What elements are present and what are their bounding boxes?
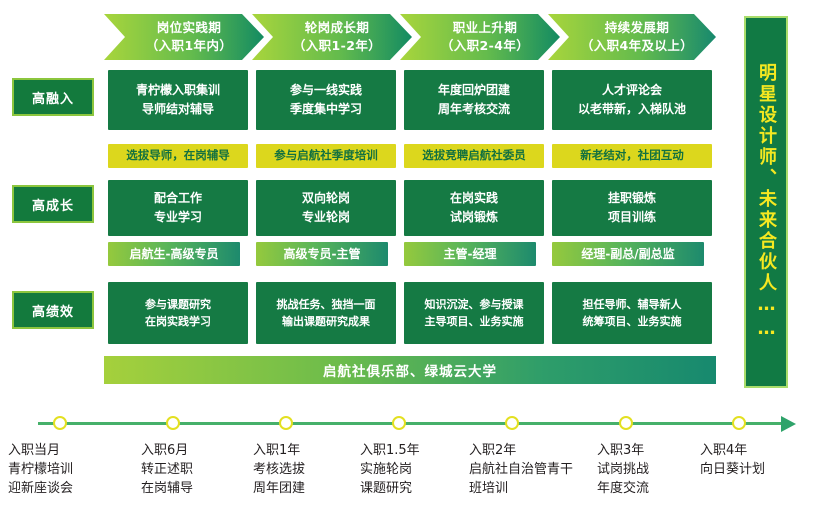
phase-4: 持续发展期 （入职4年及以上） bbox=[558, 14, 716, 60]
timeline-item-line-3: 班培训 bbox=[469, 480, 573, 499]
timeline-item-line-2: 试岗挑战 bbox=[597, 461, 649, 480]
timeline-item-line-1: 入职1年 bbox=[253, 442, 305, 461]
timeline-dot-1 bbox=[53, 416, 67, 430]
timeline-item-line-2: 考核选拔 bbox=[253, 461, 305, 480]
cell-line-1: 新老结对，社团互动 bbox=[580, 149, 684, 163]
cell-line-1: 配合工作 bbox=[154, 189, 202, 208]
cell-line-2: 导师结对辅导 bbox=[142, 100, 214, 119]
row-label-performance: 高绩效 bbox=[12, 291, 94, 329]
timeline-item-line-2: 实施轮岗 bbox=[360, 461, 420, 480]
cell-line-1: 高级专员-主管 bbox=[284, 247, 361, 261]
cell-line-1: 挑战任务、独挡一面 bbox=[277, 296, 376, 313]
cell-growth-main-2: 双向轮岗 专业轮岗 bbox=[256, 180, 396, 236]
timeline-dot-6 bbox=[619, 416, 633, 430]
cell-integration-sub-1: 选拔导师，在岗辅导 bbox=[108, 144, 248, 168]
cell-integration-main-2: 参与一线实践 季度集中学习 bbox=[256, 70, 396, 130]
cell-growth-sub-1: 启航生-高级专员 bbox=[108, 242, 240, 266]
cell-line-2: 季度集中学习 bbox=[290, 100, 362, 119]
cell-integration-main-1: 青柠檬入职集训 导师结对辅导 bbox=[108, 70, 248, 130]
phase-3-title: 职业上升期 bbox=[453, 19, 518, 37]
cell-line-1: 经理-副总/副总监 bbox=[581, 247, 674, 261]
cell-growth-sub-2: 高级专员-主管 bbox=[256, 242, 388, 266]
timeline-item-line-1: 入职2年 bbox=[469, 442, 573, 461]
cell-line-1: 双向轮岗 bbox=[302, 189, 350, 208]
row-label-integration-text: 高融入 bbox=[32, 88, 74, 107]
cell-performance-main-1: 参与课题研究 在岗实践学习 bbox=[108, 282, 248, 344]
timeline-item-4: 入职1.5年 实施轮岗 课题研究 bbox=[360, 442, 420, 499]
phase-3: 职业上升期 （入职2-4年） bbox=[410, 14, 560, 60]
cell-line-2: 统筹项目、业务实施 bbox=[583, 313, 682, 330]
timeline-dot-5 bbox=[505, 416, 519, 430]
cell-line-1: 参与启航社季度培训 bbox=[274, 149, 378, 163]
timeline-item-line-2: 青柠檬培训 bbox=[8, 461, 73, 480]
timeline: 入职当月 青柠檬培训 迎新座谈会 入职6月 转正述职 在岗辅导 入职1年 考核选… bbox=[0, 398, 821, 512]
cell-line-1: 启航生-高级专员 bbox=[130, 247, 219, 261]
cell-line-1: 选拔竞聘启航社委员 bbox=[422, 149, 526, 163]
phase-2-title: 轮岗成长期 bbox=[305, 19, 370, 37]
row-label-growth: 高成长 bbox=[12, 185, 94, 223]
vertical-banner-text: 明星设计师、未来合伙人…… bbox=[757, 63, 775, 342]
cell-growth-main-1: 配合工作 专业学习 bbox=[108, 180, 248, 236]
cell-line-2: 专业轮岗 bbox=[302, 208, 350, 227]
cell-line-2: 在岗实践学习 bbox=[145, 313, 211, 330]
phase-1-sub: （入职1年内） bbox=[146, 37, 233, 55]
timeline-dot-3 bbox=[279, 416, 293, 430]
cell-line-2: 试岗锻炼 bbox=[450, 208, 498, 227]
cell-line-1: 人才评论会 bbox=[602, 81, 662, 100]
timeline-item-line-1: 入职当月 bbox=[8, 442, 73, 461]
timeline-item-line-1: 入职4年 bbox=[700, 442, 765, 461]
cell-growth-main-3: 在岗实践 试岗锻炼 bbox=[404, 180, 544, 236]
cell-line-1: 青柠檬入职集训 bbox=[136, 81, 220, 100]
phase-2-sub: （入职1-2年） bbox=[293, 37, 381, 55]
timeline-item-1: 入职当月 青柠檬培训 迎新座谈会 bbox=[8, 442, 73, 499]
cell-line-1: 主管-经理 bbox=[444, 247, 497, 261]
timeline-item-line-3: 迎新座谈会 bbox=[8, 480, 73, 499]
timeline-item-line-3: 周年团建 bbox=[253, 480, 305, 499]
cell-line-2: 专业学习 bbox=[154, 208, 202, 227]
cell-line-1: 在岗实践 bbox=[450, 189, 498, 208]
cell-performance-main-3: 知识沉淀、参与授课 主导项目、业务实施 bbox=[404, 282, 544, 344]
timeline-item-2: 入职6月 转正述职 在岗辅导 bbox=[141, 442, 193, 499]
cell-line-2: 主导项目、业务实施 bbox=[425, 313, 524, 330]
timeline-item-line-1: 入职3年 bbox=[597, 442, 649, 461]
cell-integration-sub-4: 新老结对，社团互动 bbox=[552, 144, 712, 168]
timeline-item-6: 入职3年 试岗挑战 年度交流 bbox=[597, 442, 649, 499]
cell-line-1: 担任导师、辅导新人 bbox=[583, 296, 682, 313]
cell-line-1: 知识沉淀、参与授课 bbox=[425, 296, 524, 313]
cell-integration-sub-2: 参与启航社季度培训 bbox=[256, 144, 396, 168]
row-label-integration: 高融入 bbox=[12, 78, 94, 116]
timeline-dot-4 bbox=[392, 416, 406, 430]
vertical-banner: 明星设计师、未来合伙人…… bbox=[744, 16, 788, 388]
timeline-axis bbox=[38, 422, 783, 425]
cell-line-1: 参与课题研究 bbox=[145, 296, 211, 313]
timeline-item-line-1: 入职1.5年 bbox=[360, 442, 420, 461]
cell-integration-main-4: 人才评论会 以老带新，入梯队池 bbox=[552, 70, 712, 130]
footer-bar: 启航社俱乐部、绿城云大学 bbox=[104, 356, 716, 384]
cell-line-1: 年度回炉团建 bbox=[438, 81, 510, 100]
phase-1-title: 岗位实践期 bbox=[157, 19, 222, 37]
timeline-item-line-1: 入职6月 bbox=[141, 442, 193, 461]
phase-2: 轮岗成长期 （入职1-2年） bbox=[262, 14, 412, 60]
cell-line-1: 选拔导师，在岗辅导 bbox=[126, 149, 230, 163]
cell-line-1: 挂职锻炼 bbox=[608, 189, 656, 208]
cell-integration-main-3: 年度回炉团建 周年考核交流 bbox=[404, 70, 544, 130]
cell-line-2: 输出课题研究成果 bbox=[282, 313, 370, 330]
cell-growth-sub-3: 主管-经理 bbox=[404, 242, 536, 266]
timeline-dot-7 bbox=[732, 416, 746, 430]
timeline-item-3: 入职1年 考核选拔 周年团建 bbox=[253, 442, 305, 499]
row-label-growth-text: 高成长 bbox=[32, 195, 74, 214]
cell-performance-main-4: 担任导师、辅导新人 统筹项目、业务实施 bbox=[552, 282, 712, 344]
cell-line-1: 参与一线实践 bbox=[290, 81, 362, 100]
timeline-item-5: 入职2年 启航社自治管青干 班培训 bbox=[469, 442, 573, 499]
timeline-item-line-3: 课题研究 bbox=[360, 480, 420, 499]
phase-1: 岗位实践期 （入职1年内） bbox=[114, 14, 264, 60]
phase-4-sub: （入职4年及以上） bbox=[581, 37, 693, 55]
timeline-arrow-icon bbox=[781, 416, 796, 432]
timeline-item-line-2: 启航社自治管青干 bbox=[469, 461, 573, 480]
cell-integration-sub-3: 选拔竞聘启航社委员 bbox=[404, 144, 544, 168]
cell-performance-main-2: 挑战任务、独挡一面 输出课题研究成果 bbox=[256, 282, 396, 344]
phase-3-sub: （入职2-4年） bbox=[441, 37, 529, 55]
timeline-dot-2 bbox=[166, 416, 180, 430]
timeline-item-7: 入职4年 向日葵计划 bbox=[700, 442, 765, 480]
cell-line-2: 以老带新，入梯队池 bbox=[578, 100, 686, 119]
cell-growth-sub-4: 经理-副总/副总监 bbox=[552, 242, 704, 266]
timeline-item-line-2: 转正述职 bbox=[141, 461, 193, 480]
timeline-item-line-3: 在岗辅导 bbox=[141, 480, 193, 499]
row-label-performance-text: 高绩效 bbox=[32, 301, 74, 320]
cell-line-2: 项目训练 bbox=[608, 208, 656, 227]
footer-bar-label: 启航社俱乐部、绿城云大学 bbox=[323, 360, 497, 380]
timeline-item-line-2: 向日葵计划 bbox=[700, 461, 765, 480]
phase-header-row: 岗位实践期 （入职1年内） 轮岗成长期 （入职1-2年） 职业上升期 （入职2-… bbox=[104, 14, 716, 60]
phase-4-title: 持续发展期 bbox=[605, 19, 670, 37]
cell-growth-main-4: 挂职锻炼 项目训练 bbox=[552, 180, 712, 236]
timeline-item-line-3: 年度交流 bbox=[597, 480, 649, 499]
cell-line-2: 周年考核交流 bbox=[438, 100, 510, 119]
career-path-diagram: 岗位实践期 （入职1年内） 轮岗成长期 （入职1-2年） 职业上升期 （入职2-… bbox=[0, 0, 821, 512]
